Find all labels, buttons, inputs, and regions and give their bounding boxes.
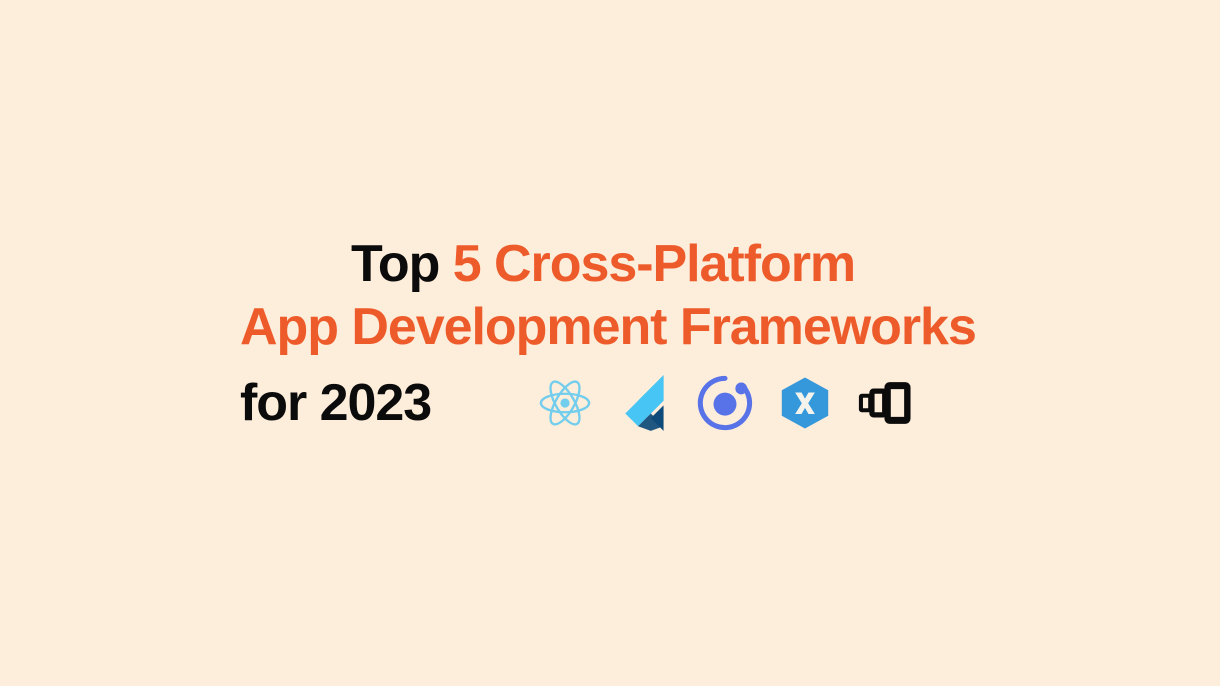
headline-line-3: for 2023 <box>240 377 431 429</box>
headline-line-1-orange-segment: 5 Cross-Platform <box>453 235 855 293</box>
headline-line-2-orange-segment: App Development Frameworks <box>240 298 976 356</box>
xamarin-logo-icon <box>775 373 835 433</box>
headline-line-1-black-segment: Top <box>351 235 453 293</box>
ionic-logo-icon <box>695 373 755 433</box>
headline-line-3-row: for 2023 <box>240 364 998 442</box>
flutter-logo-icon <box>615 373 675 433</box>
react-logo-icon <box>535 373 595 433</box>
headline-block: Top 5 Cross-Platform App Development Fra… <box>238 238 998 442</box>
headline-line-3-black-segment: for 2023 <box>240 374 431 432</box>
devices-logo-icon <box>855 373 915 433</box>
headline-line-2: App Development Frameworks <box>240 301 998 353</box>
headline-line-1: Top 5 Cross-Platform <box>351 238 998 290</box>
banner-canvas: Top 5 Cross-Platform App Development Fra… <box>0 0 1220 686</box>
framework-logo-row <box>535 373 915 433</box>
